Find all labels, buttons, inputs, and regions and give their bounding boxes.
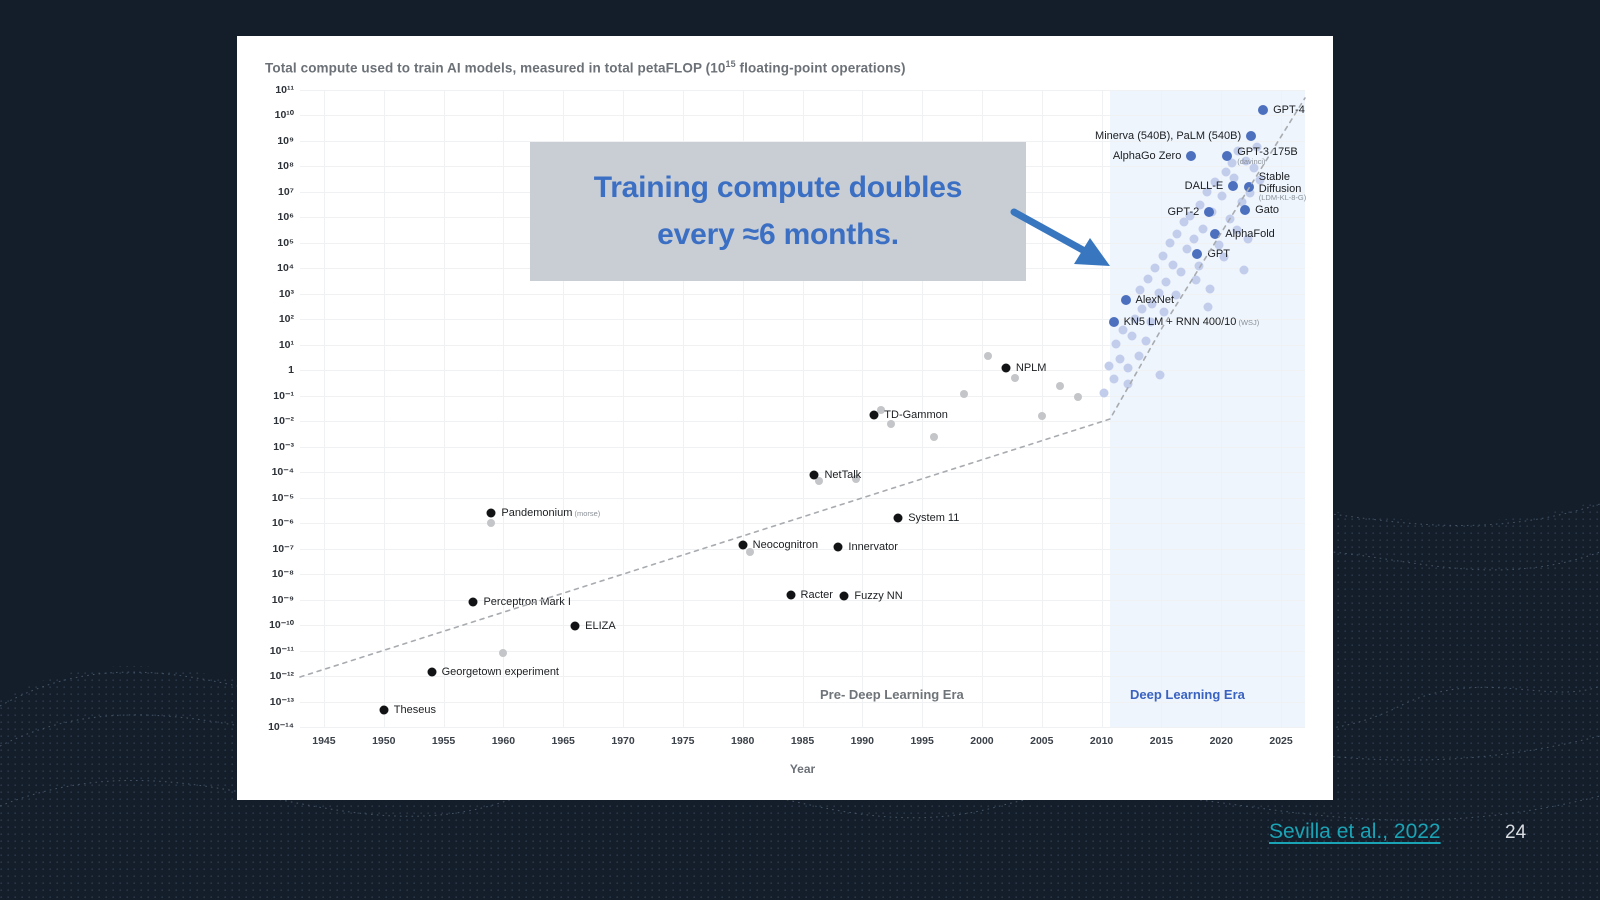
y-axis-tick-label: 10³: [234, 288, 294, 300]
x-axis-tick-label: 2020: [1210, 735, 1233, 747]
x-axis-tick-label: 1970: [611, 735, 634, 747]
slide-card: Total compute used to train AI models, m…: [237, 36, 1333, 800]
x-axis-tick-label: 2015: [1150, 735, 1173, 747]
callout-arrow-icon: [1012, 206, 1132, 286]
source-citation-link[interactable]: Sevilla et al., 2022: [1269, 820, 1441, 844]
era-label-pre-deep-learning: Pre- Deep Learning Era: [820, 687, 964, 702]
y-axis-tick-label: 10⁻¹⁰: [234, 619, 294, 631]
y-axis-tick-label: 10²: [234, 313, 294, 325]
y-axis-tick-label: 10⁻¹³: [234, 696, 294, 708]
x-axis-tick-label: 1950: [372, 735, 395, 747]
y-axis-tick-label: 10⁻⁵: [234, 492, 294, 504]
x-axis-tick-label: 1965: [552, 735, 575, 747]
y-axis-tick-label: 10⁻¹²: [234, 670, 294, 682]
y-axis-tick-label: 10⁹: [234, 135, 294, 147]
y-axis-tick-label: 10¹: [234, 339, 294, 351]
x-axis-tick-label: 2010: [1090, 735, 1113, 747]
x-axis-tick-label: 1990: [851, 735, 874, 747]
callout-line-2: every ≈6 months.: [657, 212, 899, 259]
y-axis-tick-label: 10⁻¹⁴: [234, 721, 294, 733]
callout-line-1: Training compute doubles: [594, 165, 963, 212]
x-axis-tick-label: 1980: [731, 735, 754, 747]
y-axis-tick-label: 10⁻¹¹: [234, 645, 294, 657]
era-label-deep-learning: Deep Learning Era: [1130, 687, 1245, 702]
y-axis-tick-label: 10⁻⁷: [234, 543, 294, 555]
x-axis-tick-label: 2005: [1030, 735, 1053, 747]
page-number: 24: [1505, 822, 1526, 844]
y-axis-tick-label: 10⁻⁶: [234, 517, 294, 529]
x-axis-tick-label: 2000: [970, 735, 993, 747]
y-axis-tick-label: 10⁻⁸: [234, 568, 294, 580]
y-axis-tick-label: 10¹⁰: [234, 109, 294, 121]
y-axis-tick-label: 10¹¹: [234, 84, 294, 96]
y-axis-tick-label: 10⁴: [234, 262, 294, 274]
x-axis-tick-label: 1960: [492, 735, 515, 747]
x-axis-tick-label: 2025: [1269, 735, 1292, 747]
callout-box: Training compute doubles every ≈6 months…: [530, 142, 1026, 281]
y-axis-tick-label: 10⁵: [234, 237, 294, 249]
y-axis-tick-label: 10⁷: [234, 186, 294, 198]
y-axis-tick-label: 10⁸: [234, 160, 294, 172]
chart-title: Total compute used to train AI models, m…: [265, 59, 906, 76]
x-axis-tick-label: 1985: [791, 735, 814, 747]
x-axis-tick-label: 1995: [910, 735, 933, 747]
y-axis-tick-label: 1: [234, 364, 294, 376]
y-axis-tick-label: 10⁻⁴: [234, 466, 294, 478]
gridline-horizontal: [300, 727, 1305, 728]
x-axis-label: Year: [300, 762, 1305, 776]
y-axis-tick-label: 10⁻²: [234, 415, 294, 427]
y-axis-tick-label: 10⁻¹: [234, 390, 294, 402]
y-axis-tick-label: 10⁻⁹: [234, 594, 294, 606]
x-axis-tick-label: 1945: [312, 735, 335, 747]
y-axis-tick-label: 10⁻³: [234, 441, 294, 453]
x-axis-tick-label: 1955: [432, 735, 455, 747]
x-axis-tick-label: 1975: [671, 735, 694, 747]
y-axis-tick-label: 10⁶: [234, 211, 294, 223]
